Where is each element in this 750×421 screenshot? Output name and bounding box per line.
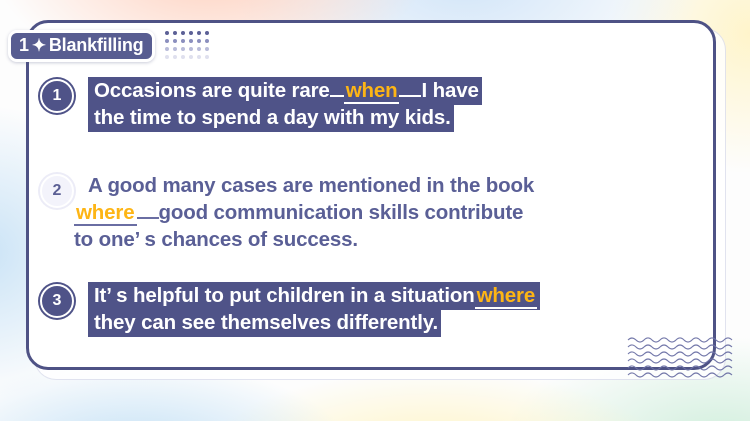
- sentence-part-before: It’ s helpful to put children in a situa…: [94, 284, 475, 307]
- sentence-line-1: A good many cases are mentioned in the b…: [88, 174, 534, 197]
- sentence-part-before: Occasions are quite rare: [94, 79, 330, 102]
- sparkle-icon: ✦: [32, 37, 46, 54]
- section-title: Blankfilling: [49, 35, 144, 56]
- blank-underline-right: [137, 217, 159, 219]
- question-text: Occasions are quite rarewhenI havethe ti…: [74, 77, 482, 131]
- question-number-badge[interactable]: 2: [40, 174, 74, 208]
- question-number-badge[interactable]: 1: [40, 79, 74, 113]
- section-index: 1: [19, 35, 29, 56]
- sentence-line-2: the time to spend a day with my kids.: [94, 106, 451, 129]
- answer-blank[interactable]: where: [475, 284, 538, 309]
- dot-grid-icon: [165, 31, 211, 61]
- sentence-line-2: they can see themselves differently.: [94, 311, 438, 334]
- answer-blank[interactable]: where: [74, 201, 137, 226]
- question-text: It’ s helpful to put children in a situa…: [74, 282, 540, 336]
- slide-canvas: 1 ✦ Blankfilling 1 Occasions are quite r…: [0, 0, 750, 421]
- sentence-part-after: good communication skills contribute: [159, 201, 524, 224]
- answer-blank[interactable]: when: [344, 79, 400, 104]
- sentence-line-3: to one’ s chances of success.: [74, 228, 358, 251]
- question-list: 1 Occasions are quite rarewhenI havethe …: [26, 20, 716, 370]
- question-text: A good many cases are mentioned in the b…: [74, 172, 534, 253]
- question-sentence: It’ s helpful to put children in a situa…: [88, 282, 540, 337]
- question-row[interactable]: 3 It’ s helpful to put children in a sit…: [40, 282, 705, 336]
- question-number-badge[interactable]: 3: [40, 284, 74, 318]
- blank-underline-left: [330, 95, 344, 97]
- blank-underline-right: [399, 95, 421, 97]
- question-sentence: A good many cases are mentioned in the b…: [74, 174, 534, 251]
- question-row[interactable]: 2 A good many cases are mentioned in the…: [40, 172, 705, 253]
- question-row[interactable]: 1 Occasions are quite rarewhenI havethe …: [40, 77, 700, 131]
- section-header: 1 ✦ Blankfilling: [8, 30, 211, 62]
- sentence-part-after: I have: [421, 79, 478, 102]
- question-sentence: Occasions are quite rarewhenI havethe ti…: [88, 77, 482, 132]
- section-badge[interactable]: 1 ✦ Blankfilling: [8, 30, 155, 62]
